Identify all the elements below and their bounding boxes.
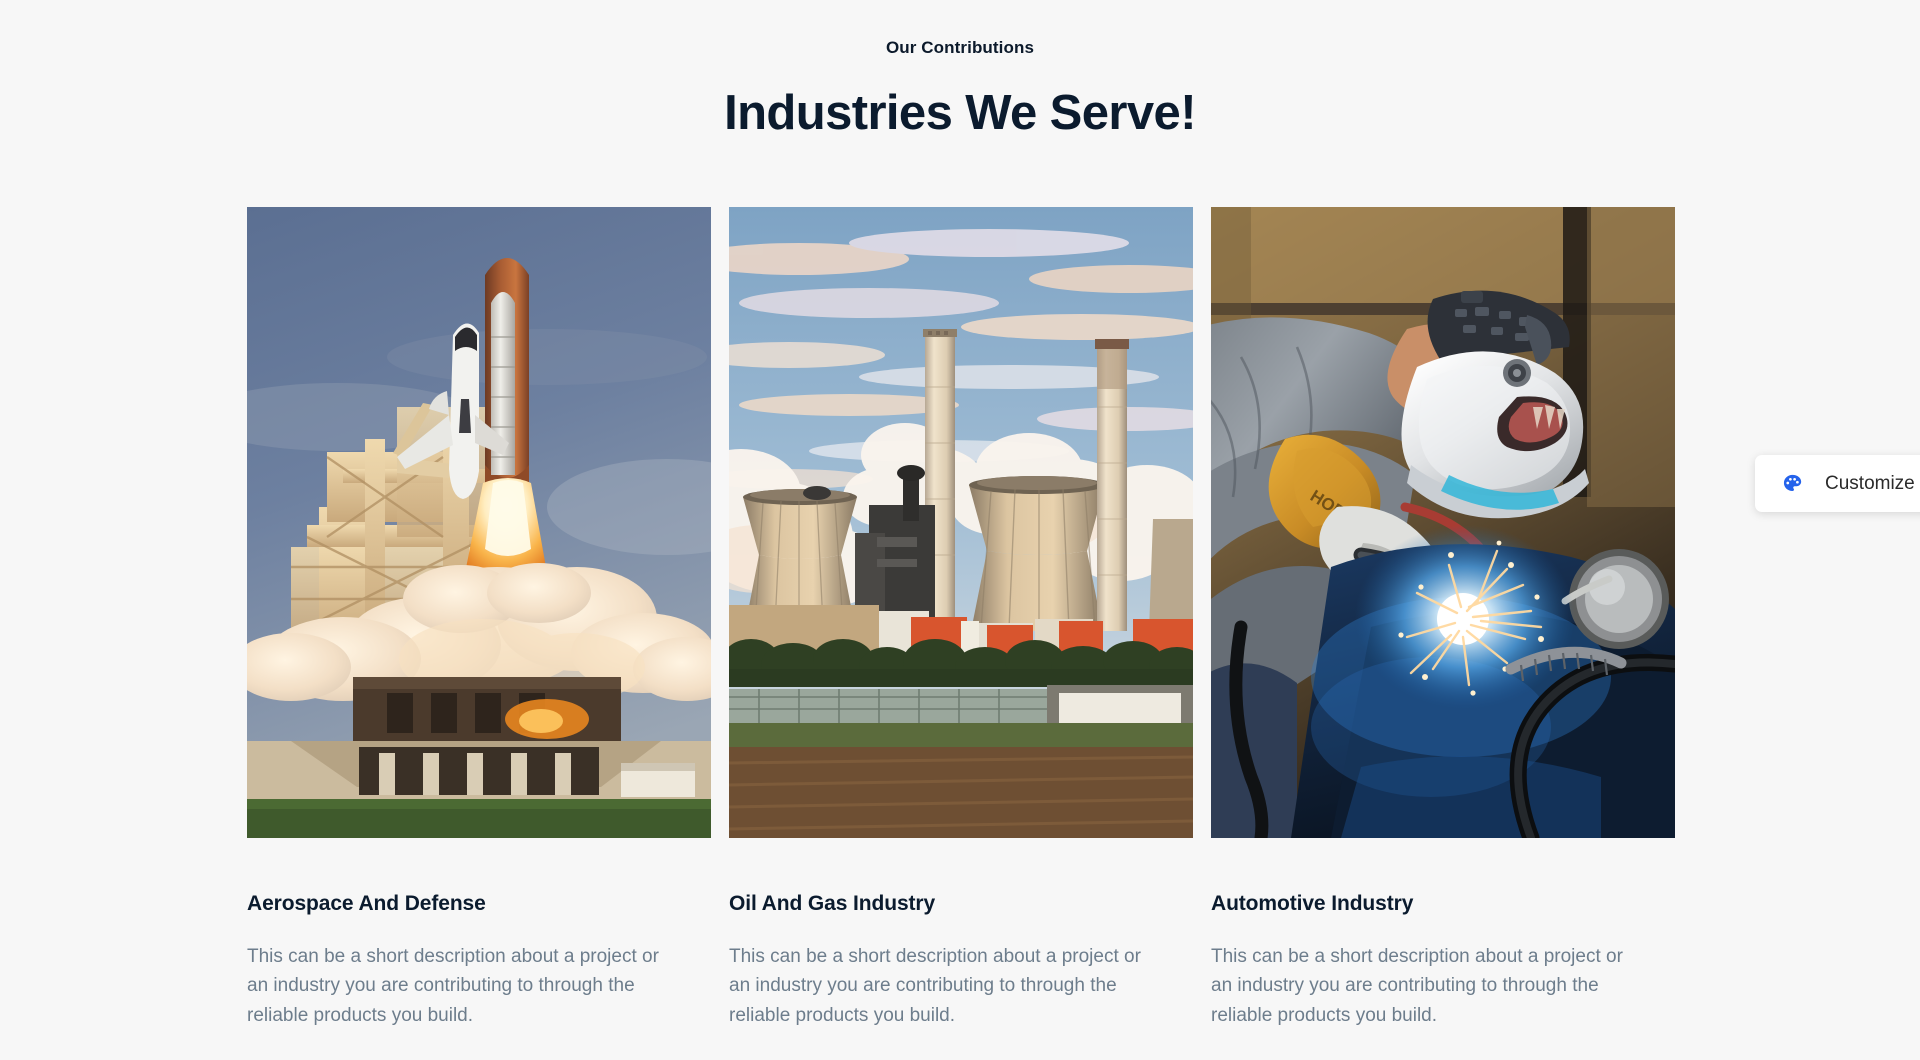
welder-icon: HOB [1211, 207, 1675, 838]
space-shuttle-launch-icon [247, 207, 711, 838]
card-title: Aerospace And Defense [247, 891, 711, 916]
page-title: Industries We Serve! [0, 85, 1920, 141]
section-header: Our Contributions Industries We Serve! [0, 0, 1920, 142]
card-title: Automotive Industry [1211, 891, 1675, 916]
card-title: Oil And Gas Industry [729, 891, 1193, 916]
card-description: This can be a short description about a … [729, 942, 1159, 1030]
industry-card-oil-and-gas[interactable]: Oil And Gas Industry This can be a short… [729, 207, 1193, 1031]
palette-icon [1782, 473, 1803, 494]
card-description: This can be a short description about a … [247, 942, 677, 1030]
card-description: This can be a short description about a … [1211, 942, 1641, 1030]
section-eyebrow: Our Contributions [0, 38, 1920, 58]
industries-card-grid: Aerospace And Defense This can be a shor… [247, 142, 1673, 1031]
power-plant-icon [729, 207, 1193, 838]
customize-label: Customize [1825, 474, 1915, 493]
card-image-oil-and-gas [729, 207, 1193, 838]
industry-card-automotive[interactable]: HOB [1211, 207, 1675, 1031]
card-image-automotive: HOB [1211, 207, 1675, 838]
card-image-aerospace [247, 207, 711, 838]
industry-card-aerospace[interactable]: Aerospace And Defense This can be a shor… [247, 207, 711, 1031]
customize-button[interactable]: Customize [1755, 455, 1920, 512]
